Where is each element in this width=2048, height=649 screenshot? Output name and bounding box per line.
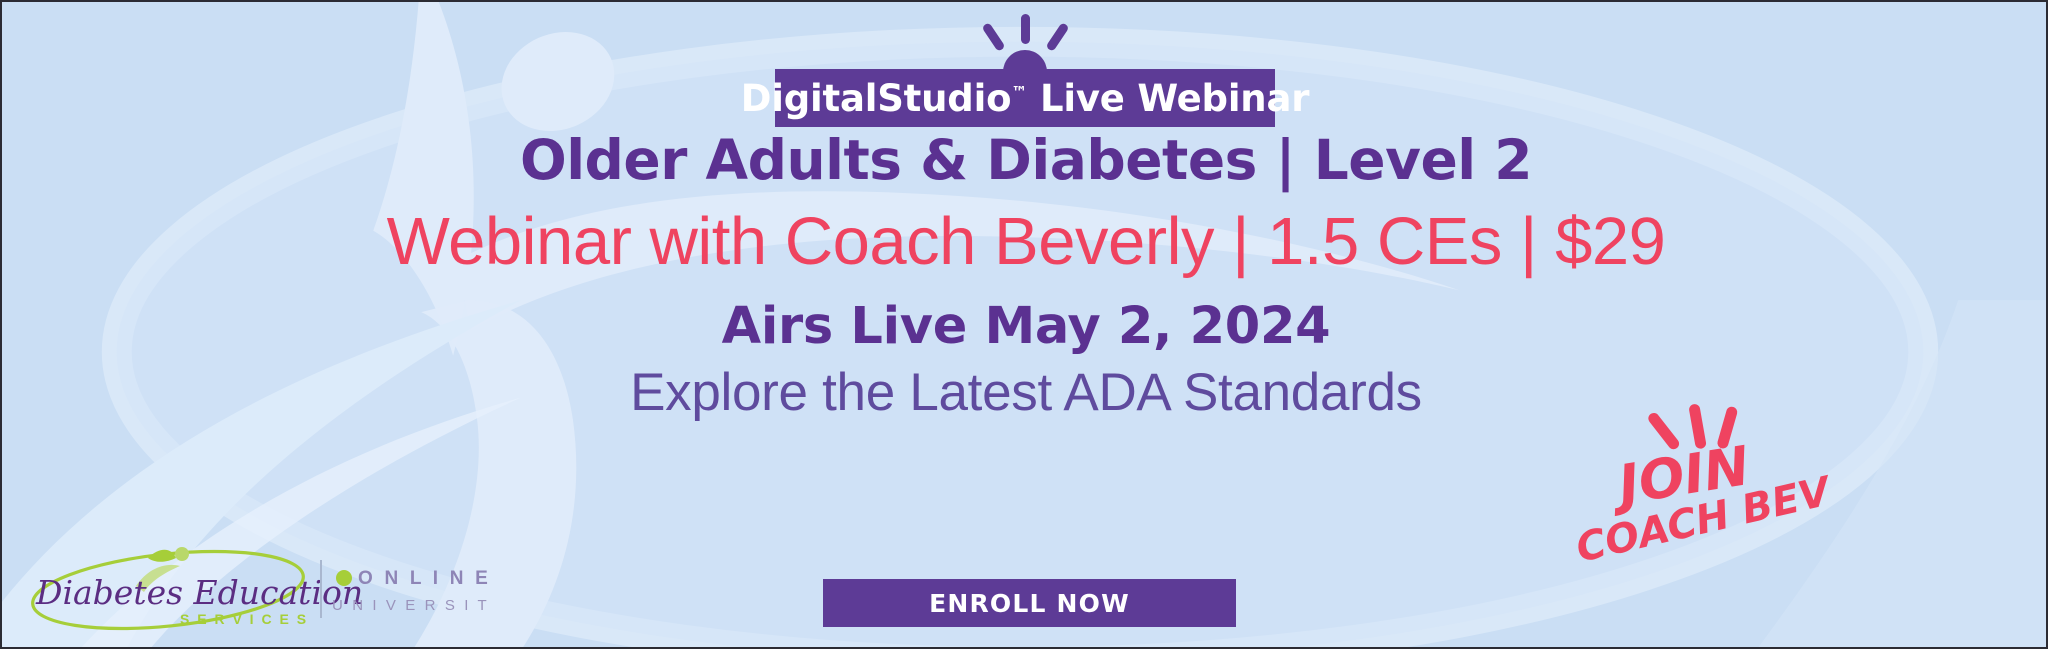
webinar-promo-banner: DigitalStudio™ Live Webinar Older Adults…	[0, 0, 2048, 649]
logo-divider	[320, 560, 322, 618]
price-line: Webinar with Coach Beverly | 1.5 CEs | $…	[2, 204, 2048, 279]
headline-block: Older Adults & Diabetes | Level 2 Webina…	[2, 132, 2048, 422]
logo-leaf-icon	[148, 550, 176, 562]
logo-university-text: U N I V E R S I T Y	[332, 597, 490, 614]
logo-script-text: Diabetes Education	[35, 573, 363, 612]
digitalstudio-badge-group: DigitalStudio™ Live Webinar	[775, 12, 1275, 127]
logo-online-text: O N L I N E	[358, 568, 490, 589]
digitalstudio-badge: DigitalStudio™ Live Webinar	[775, 69, 1275, 127]
badge-label: DigitalStudio™ Live Webinar	[741, 80, 1310, 117]
air-date-line: Airs Live May 2, 2024	[2, 299, 2048, 354]
enroll-now-button[interactable]: ENROLL NOW	[823, 579, 1236, 627]
logo-dot-icon	[175, 547, 189, 561]
brand-logo[interactable]: Diabetes Education S E R V I C E S O N L…	[20, 542, 490, 642]
page-title: Older Adults & Diabetes | Level 2	[2, 132, 2048, 190]
logo-services-text: S E R V I C E S	[180, 611, 308, 627]
trademark-icon: ™	[1011, 82, 1027, 101]
badge-label-main: DigitalStudio	[741, 77, 1012, 120]
sunburst-icon	[970, 12, 1080, 72]
badge-label-tail: Live Webinar	[1027, 77, 1309, 120]
online-o-icon	[336, 570, 352, 586]
join-coach-bev-sticker[interactable]: JOIN COACH BEV	[1570, 400, 1850, 600]
